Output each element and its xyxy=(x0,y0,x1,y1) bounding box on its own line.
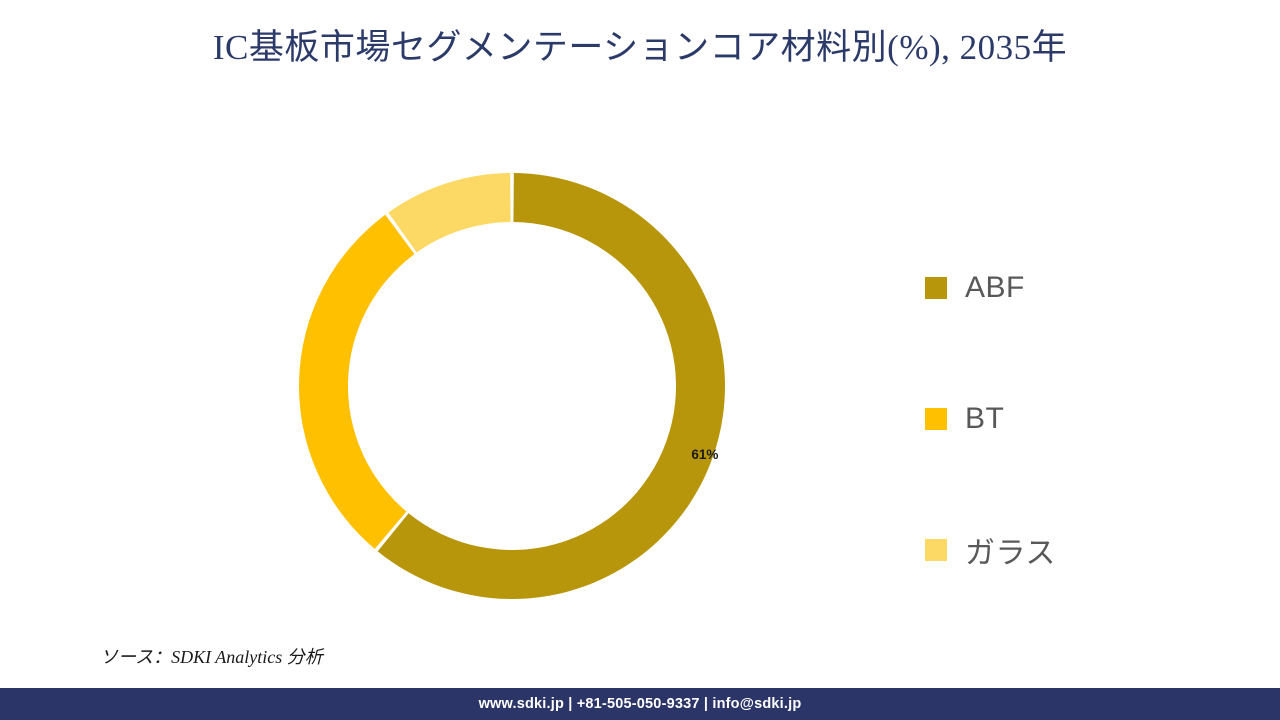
legend-item-bt[interactable]: BT xyxy=(925,353,1185,484)
chart-legend: ABF BT ガラス xyxy=(925,222,1185,615)
footer-bar: www.sdki.jp | +81-505-050-9337 | info@sd… xyxy=(0,688,1280,720)
donut-chart: 61% xyxy=(299,173,725,599)
donut-slice-ガラス[interactable] xyxy=(388,173,510,252)
legend-item-abf[interactable]: ABF xyxy=(925,222,1185,353)
source-note: ソース：SDKI Analytics 分析 xyxy=(100,643,323,669)
legend-swatch-icon-bt xyxy=(925,408,947,430)
legend-swatch-icon-glass xyxy=(925,539,947,561)
legend-label-glass: ガラス xyxy=(965,528,1056,572)
legend-label-abf: ABF xyxy=(965,271,1025,305)
donut-data-label-abf: 61% xyxy=(691,447,718,462)
legend-swatch-icon-abf xyxy=(925,277,947,299)
slide-canvas: IC基板市場セグメンテーションコア材料別(%), 2035年 61% ABF B… xyxy=(0,0,1280,720)
footer-contact-text: www.sdki.jp | +81-505-050-9337 | info@sd… xyxy=(479,696,802,712)
donut-slice-bt[interactable] xyxy=(299,215,414,549)
donut-data-label-group: 61% xyxy=(691,447,718,462)
legend-label-bt: BT xyxy=(965,402,1004,436)
page-title: IC基板市場セグメンテーションコア材料別(%), 2035年 xyxy=(0,26,1280,70)
donut-slice-group xyxy=(299,173,725,599)
legend-item-glass[interactable]: ガラス xyxy=(925,484,1185,615)
donut-chart-svg: 61% xyxy=(299,173,725,599)
